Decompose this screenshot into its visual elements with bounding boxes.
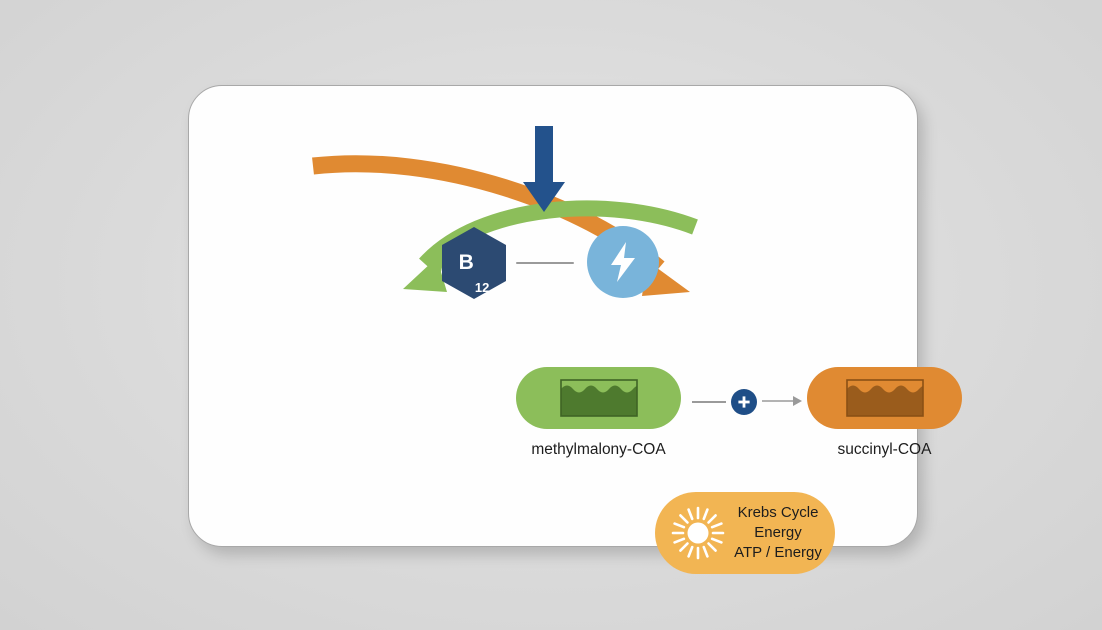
junction-to-product-arrow xyxy=(762,392,802,410)
curved-arrows-layer xyxy=(189,86,917,546)
product-node[interactable] xyxy=(807,367,962,429)
b12-cofactor-node[interactable]: B12 xyxy=(442,227,506,299)
diagram-stage: B12 methylmal xyxy=(189,86,917,546)
sun-icon xyxy=(670,505,726,561)
outcome-node[interactable]: Krebs Cycle Energy ATP / Energy xyxy=(655,492,835,574)
diagram-card: B12 methylmal xyxy=(188,85,918,547)
outcome-line-3: ATP / Energy xyxy=(727,543,829,563)
outcome-line-1: Krebs Cycle xyxy=(727,503,829,523)
b12-label: B12 xyxy=(442,227,506,299)
plus-junction-node[interactable] xyxy=(731,389,757,415)
liquid-wave-icon xyxy=(559,378,639,418)
substrate-label: methylmalony-COA xyxy=(516,441,681,459)
b12-label-subscript: 12 xyxy=(475,280,489,299)
cofactor-connector-line xyxy=(516,262,574,264)
junction-to-outcome-arrow xyxy=(189,86,917,546)
sun-icon-wrapper xyxy=(669,504,727,562)
plus-circle-icon xyxy=(736,394,752,410)
outcome-line-2: Energy xyxy=(727,523,829,543)
activation-node[interactable] xyxy=(587,226,659,298)
substrate-node[interactable] xyxy=(516,367,681,429)
outcome-text: Krebs Cycle Energy ATP / Energy xyxy=(727,503,835,562)
b12-label-main: B xyxy=(459,251,474,275)
product-label: succinyl-COA xyxy=(807,441,962,459)
substrate-to-junction-line xyxy=(692,401,726,403)
liquid-wave-icon xyxy=(845,378,925,418)
lightning-bolt-icon xyxy=(606,240,640,284)
